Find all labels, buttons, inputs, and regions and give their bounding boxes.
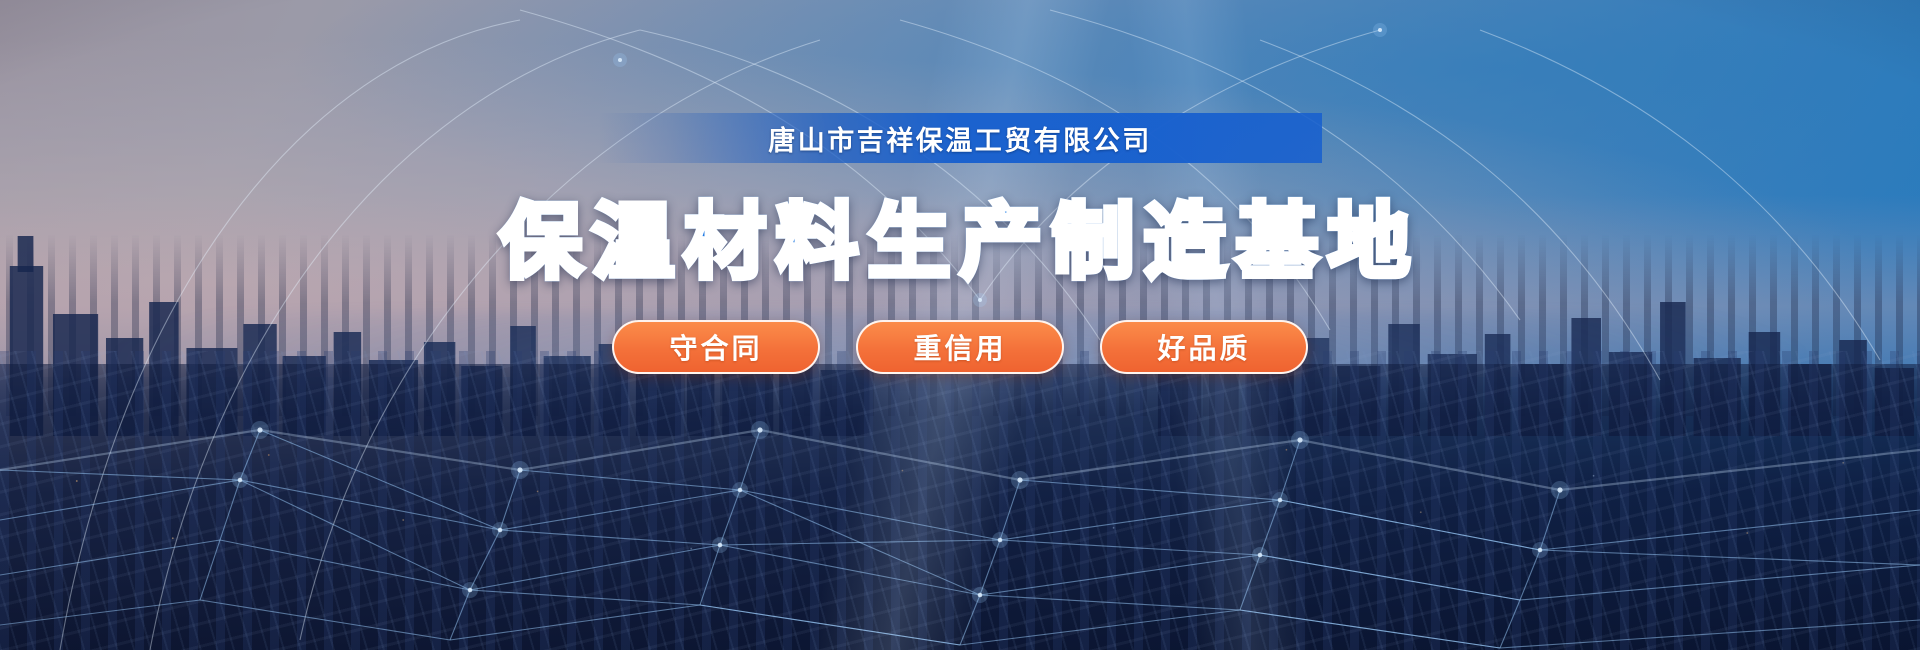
headline-text: 保温材料生产制造基地 — [500, 175, 1420, 294]
badge-zhong-xin-yong[interactable]: 重信用 — [856, 320, 1064, 374]
badge-hao-pin-zhi[interactable]: 好品质 — [1100, 320, 1308, 374]
company-name-text: 唐山市吉祥保温工贸有限公司 — [768, 119, 1152, 158]
badge-label: 好品质 — [1157, 327, 1250, 367]
badge-label: 守合同 — [669, 327, 762, 367]
company-name-band: 唐山市吉祥保温工贸有限公司 — [598, 113, 1322, 163]
hero-banner: 唐山市吉祥保温工贸有限公司 保温材料生产制造基地 守合同 重信用 好品质 — [0, 0, 1920, 650]
banner-content: 唐山市吉祥保温工贸有限公司 保温材料生产制造基地 守合同 重信用 好品质 — [0, 0, 1920, 650]
badge-label: 重信用 — [913, 327, 1006, 367]
badge-row: 守合同 重信用 好品质 — [612, 320, 1308, 374]
badge-shou-he-tong[interactable]: 守合同 — [612, 320, 820, 374]
